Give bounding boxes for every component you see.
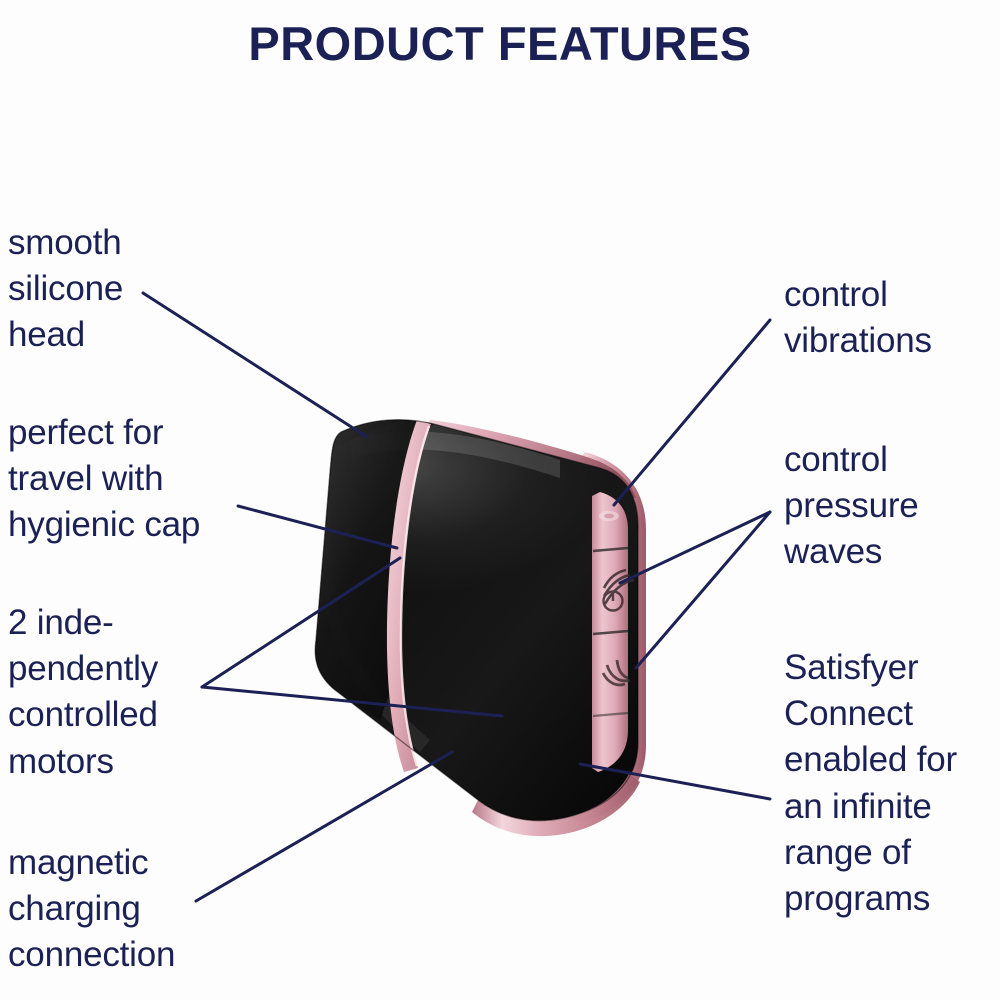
callout-perfect-for-travel: perfect for travel with hygienic cap <box>8 410 200 549</box>
callout-line: enabled for <box>784 737 957 783</box>
callout-line: perfect for <box>8 410 200 456</box>
callout-line: Connect <box>784 691 957 737</box>
control-panel <box>592 492 634 772</box>
callout-smooth-silicone-head: smooth silicone head <box>8 220 123 359</box>
callout-satisfyer-connect: Satisfyer Connect enabled for an infinit… <box>784 645 957 922</box>
callout-line: pressure <box>784 483 919 529</box>
callout-line: head <box>8 312 123 358</box>
power-icon <box>599 511 619 521</box>
callout-line: vibrations <box>784 318 932 364</box>
callout-line: hygienic cap <box>8 502 200 548</box>
callout-line: range of <box>784 830 957 876</box>
callout-line: controlled <box>8 692 158 738</box>
callout-line: motors <box>8 739 158 785</box>
callout-line: silicone <box>8 266 123 312</box>
callout-line: control <box>784 437 919 483</box>
callout-line: smooth <box>8 220 123 266</box>
callout-magnetic-charging: magnetic charging connection <box>8 840 175 979</box>
callout-line: magnetic <box>8 840 175 886</box>
callout-line: Satisfyer <box>784 645 957 691</box>
callout-line: waves <box>784 529 919 575</box>
callout-line: connection <box>8 932 175 978</box>
callout-line: 2 inde- <box>8 600 158 646</box>
callout-line: programs <box>784 876 957 922</box>
callout-control-pressure-waves: control pressure waves <box>784 437 919 576</box>
callout-line: control <box>784 272 932 318</box>
callout-line: an infinite <box>784 784 957 830</box>
callout-line: travel with <box>8 456 200 502</box>
product-features-infographic: PRODUCT FEATURES <box>0 0 1000 1000</box>
callout-two-motors: 2 inde- pendently controlled motors <box>8 600 158 785</box>
callout-line: charging <box>8 886 175 932</box>
callout-line: pendently <box>8 646 158 692</box>
callout-control-vibrations: control vibrations <box>784 272 932 364</box>
